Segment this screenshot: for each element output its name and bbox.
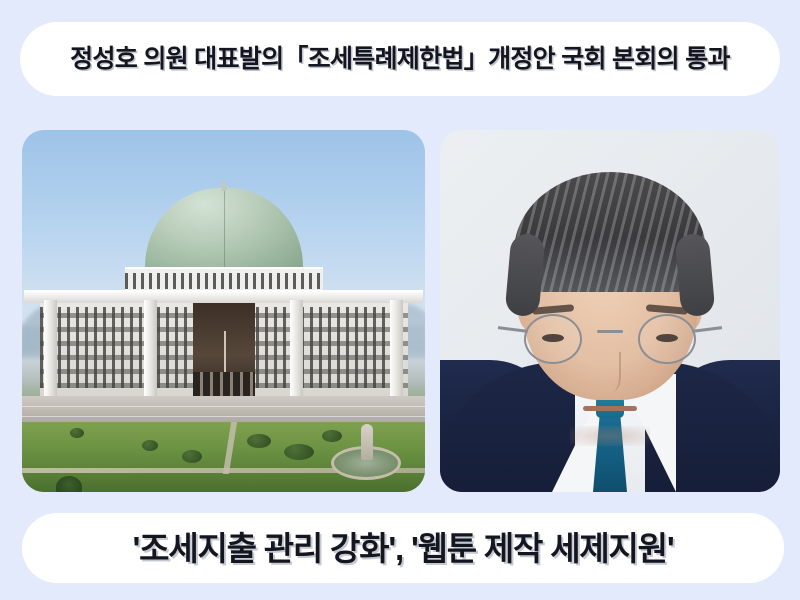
- dome-colonnade-drum: [125, 269, 323, 292]
- national-assembly-building-photo: [22, 130, 425, 492]
- building-roof-slab: [24, 290, 423, 303]
- front-lawn: [22, 422, 425, 492]
- garden-shrub: [247, 434, 271, 448]
- flagpole: [224, 331, 226, 373]
- facade-pillar: [390, 300, 403, 400]
- caption-text: '조세지출 관리 강화', '웹툰 제작 세제지원': [133, 532, 674, 565]
- nose: [599, 352, 621, 392]
- eyeglasses-lens-left: [524, 314, 582, 364]
- garden-shrub: [182, 450, 202, 463]
- facade-pillar: [144, 300, 157, 400]
- dome-rib: [224, 191, 225, 269]
- caption-pill: '조세지출 관리 강화', '웹툰 제작 세제지원': [22, 513, 784, 583]
- headline-pill: 정성호 의원 대표발의「조세특례제한법」개정안 국회 본회의 통과: [20, 22, 780, 96]
- eyeglasses-lens-right: [638, 314, 696, 364]
- garden-monument: [361, 424, 373, 460]
- plaza-step-line: [22, 406, 425, 407]
- photo-row: [22, 130, 780, 492]
- hair-side-right: [674, 233, 715, 318]
- chin-shadow: [570, 426, 650, 446]
- foreground-tree: [56, 476, 82, 492]
- eyeglasses-bridge: [597, 330, 623, 333]
- politician-portrait-photo: [440, 130, 780, 492]
- drum-columns: [125, 273, 323, 289]
- garden-path-vertical: [223, 422, 237, 474]
- dome-finial: [221, 182, 226, 191]
- garden-shrub: [322, 430, 342, 442]
- garden-shrub: [142, 440, 158, 451]
- garden-shrub: [70, 428, 84, 438]
- mouth: [583, 406, 637, 411]
- central-portico: [193, 303, 255, 398]
- plaza-step-line: [22, 416, 425, 417]
- portico-base-columns: [193, 372, 255, 398]
- facade-pillar: [290, 300, 303, 400]
- facade-pillar: [44, 300, 57, 400]
- assembly-dome: [145, 188, 303, 272]
- page-title: 정성호 의원 대표발의「조세특례제한법」개정안 국회 본회의 통과: [70, 47, 730, 72]
- garden-shrub: [284, 444, 314, 460]
